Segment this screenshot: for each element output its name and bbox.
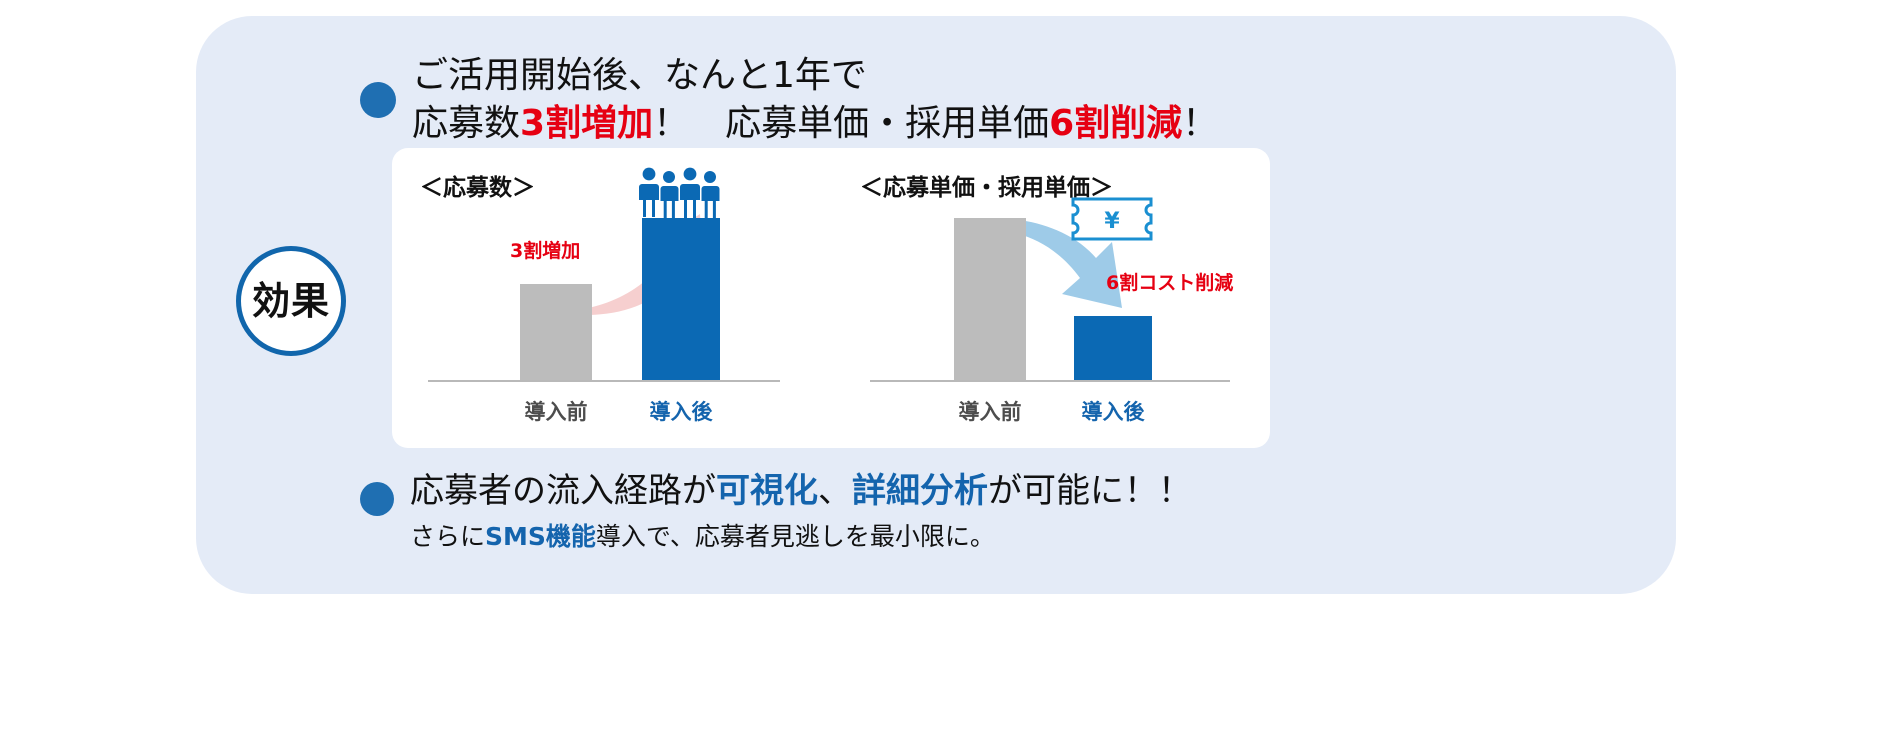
chart-right-xlabel-after: 導入後	[1067, 396, 1159, 426]
bottom-text: 応募者の流入経路が可視化、詳細分析が可能に！！ さらにSMS機能導入で、応募者見…	[410, 470, 1192, 553]
bullet-dot-icon	[360, 82, 396, 118]
bar-left-before	[520, 284, 592, 380]
bottom-line-2: さらにSMS機能導入で、応募者見逃しを最小限に。	[410, 521, 1192, 554]
bottom-line1-part2: 、	[818, 471, 852, 511]
chart-right-annotation: 6割コスト削減	[1106, 268, 1233, 295]
chart-left-axis	[428, 380, 780, 382]
headline-line-2: 応募数3割増加！ 応募単価・採用単価6割削減！	[412, 100, 1218, 148]
headline-text: ご活用開始後、なんと1年で 応募数3割増加！ 応募単価・採用単価6割削減！	[412, 52, 1218, 148]
chart-left-title: ＜応募数＞	[420, 168, 535, 202]
bottom-line2-part1: さらに	[410, 522, 485, 551]
infographic-root: 効果 ご活用開始後、なんと1年で 応募数3割増加！ 応募単価・採用単価6割削減！…	[0, 0, 1900, 736]
chart-right-axis	[870, 380, 1230, 382]
bottom-emphasis-2: 詳細分析	[852, 471, 988, 511]
headline-line2-part3: ！	[1182, 103, 1218, 144]
bar-right-after	[1074, 316, 1152, 380]
chart-right-xlabel-before: 導入前	[944, 396, 1036, 426]
bottom-emphasis-3: SMS機能	[485, 522, 596, 551]
effect-badge-label: 効果	[252, 282, 330, 320]
bottom-line2-part2: 導入で、応募者見逃しを最小限に。	[596, 522, 995, 551]
chart-left-annotation: 3割増加	[510, 236, 580, 263]
bottom-block: 応募者の流入経路が可視化、詳細分析が可能に！！ さらにSMS機能導入で、応募者見…	[360, 470, 1192, 553]
people-icon	[638, 166, 724, 218]
bar-right-before	[954, 218, 1026, 380]
bottom-emphasis-1: 可視化	[716, 471, 818, 511]
headline-line1-text: ご活用開始後、なんと1年で	[412, 55, 867, 96]
bottom-line1-part1: 応募者の流入経路が	[410, 471, 716, 511]
bar-left-after	[642, 218, 720, 380]
chart-panel: ＜応募数＞ 3割増加 導入前 導入後	[392, 148, 1270, 448]
headline-line2-part1: 応募数	[412, 103, 520, 144]
headline-line-1: ご活用開始後、なんと1年で	[412, 52, 1218, 100]
headline-block: ご活用開始後、なんと1年で 応募数3割増加！ 応募単価・採用単価6割削減！	[360, 52, 1218, 148]
svg-text:¥: ¥	[1104, 209, 1120, 234]
headline-line2-part2: ！ 応募単価・採用単価	[653, 103, 1049, 144]
headline-emphasis-2: 6割削減	[1049, 103, 1182, 144]
headline-emphasis-1: 3割増加	[520, 103, 653, 144]
effect-badge: 効果	[236, 246, 346, 356]
bullet-dot-icon-2	[360, 482, 394, 516]
yen-coupon-icon: ¥	[1070, 196, 1154, 242]
bottom-line-1: 応募者の流入経路が可視化、詳細分析が可能に！！	[410, 470, 1192, 513]
bottom-line1-part3: が可能に！！	[988, 471, 1192, 511]
chart-left-xlabel-before: 導入前	[510, 396, 602, 426]
chart-left-xlabel-after: 導入後	[635, 396, 727, 426]
